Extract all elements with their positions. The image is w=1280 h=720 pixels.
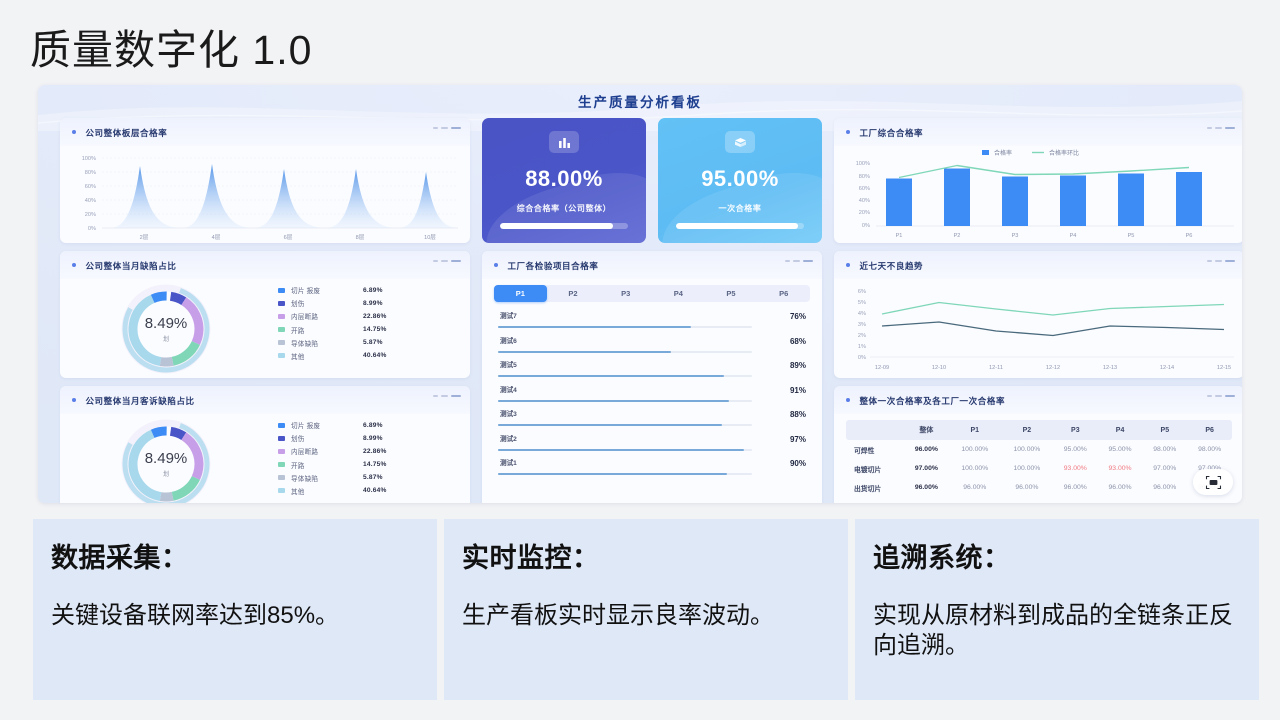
bullet-icon [72, 130, 76, 134]
donut-legend: 切片 报废6.89% 划伤8.99% 内层断路22.86% 开路14.75% 导… [278, 420, 456, 496]
box-icon [725, 131, 755, 153]
svg-text:0%: 0% [862, 223, 870, 229]
kpi-label: 一次合格率 [719, 203, 762, 214]
svg-text:5%: 5% [858, 300, 866, 306]
donut-center-label: 8.49% 划 [106, 418, 226, 503]
bullet-icon [846, 398, 850, 402]
dashboard-title: 生产质量分析看板 [38, 91, 1242, 111]
panel-controls[interactable] [433, 395, 461, 397]
panel-header: 近七天不良趋势 [834, 251, 1242, 279]
table-row: 电测 97.00% 97.00% 97.00% 97.00% 97.00% 97… [846, 498, 1232, 503]
svg-text:P2: P2 [954, 233, 961, 239]
panel-body: 8.49% 划 切片 报废6.89% 划伤8.99% 内层断路22.86% 开路… [60, 279, 470, 378]
summary-heading: 追溯系统： [873, 536, 1243, 575]
svg-text:P3: P3 [1012, 233, 1019, 239]
col-blank [846, 420, 904, 440]
svg-text:20%: 20% [85, 212, 96, 218]
line-chart-defect-trend: 6% 5% 4% 3% 2% 1% 0% 12-09 12-10 12-11 1… [834, 279, 1242, 378]
panel-title: 公司整体当月缺陷占比 [85, 261, 176, 271]
panel-header: 公司整体板层合格率 [60, 118, 470, 146]
svg-text:80%: 80% [85, 170, 96, 176]
donut-center-label: 8.49% 划 [106, 283, 226, 375]
bullet-icon [846, 263, 850, 267]
progress-row: 测试297% [498, 433, 806, 452]
panel-controls[interactable] [785, 260, 813, 262]
kpi-card-overall-pass-rate[interactable]: 88.00% 综合合格率（公司整体） [482, 118, 646, 243]
kpi-progress-track [500, 223, 628, 229]
panel-controls[interactable] [1207, 127, 1235, 129]
progress-row: 测试491% [498, 384, 806, 403]
svg-text:40%: 40% [859, 198, 870, 204]
svg-text:12-11: 12-11 [989, 365, 1003, 371]
panel-defect-ratio: 公司整体当月缺陷占比 [60, 251, 470, 378]
svg-text:2%: 2% [858, 333, 866, 339]
svg-text:12-10: 12-10 [932, 365, 946, 371]
legend-item: 导体缺陷5.87% [278, 473, 456, 483]
factory-tab-bar[interactable]: P1 P2 P3 P4 P5 P6 [494, 285, 810, 302]
svg-text:0%: 0% [858, 355, 866, 361]
tab-p6[interactable]: P6 [757, 285, 810, 302]
col-p2: P2 [1001, 420, 1053, 440]
svg-text:40%: 40% [85, 198, 96, 204]
table-row: 电镀切片 97.00% 100.00% 100.00% 93.00% 93.00… [846, 459, 1232, 478]
panel-controls[interactable] [1207, 395, 1235, 397]
svg-text:12-09: 12-09 [875, 365, 889, 371]
svg-text:100%: 100% [856, 161, 870, 167]
summary-text: 生产看板实时显示良率波动。 [462, 601, 832, 631]
col-p3: P3 [1053, 420, 1098, 440]
summary-box-data-collection: 数据采集： 关键设备联网率达到85%。 [33, 519, 437, 700]
slide-root: 质量数字化 1.0 生产质量分析看板 公司整体板层合格率 [0, 0, 1280, 720]
donut-chart: 8.49% 划 [106, 283, 226, 375]
legend-item: 其他40.64% [278, 486, 456, 496]
panel-layer-pass-rate: 公司整体板层合格率 [60, 118, 470, 243]
panel-body: 8.49% 划 切片 报废6.89% 划伤8.99% 内层断路22.86% 开路… [60, 414, 470, 503]
col-p6: P6 [1187, 420, 1232, 440]
panel-body: 100% 80% 60% 40% 20% 0% 2层 4层 6层 [60, 146, 470, 243]
svg-text:6%: 6% [858, 289, 866, 295]
svg-text:P5: P5 [1128, 233, 1135, 239]
col-overall: 整体 [904, 420, 949, 440]
tab-p4[interactable]: P4 [652, 285, 705, 302]
donut-center-sublabel: 划 [163, 469, 169, 478]
tab-p5[interactable]: P5 [705, 285, 758, 302]
summary-text: 实现从原材料到成品的全链条正反向追溯。 [873, 601, 1243, 662]
panel-body: P1 P2 P3 P4 P5 P6 测试776% 测试668% 测试589% 测… [482, 279, 822, 503]
panel-factory-pass-rate: 工厂综合合格率 合格率 合格率环比 100% 80% 60% 40% 20 [834, 118, 1242, 243]
panel-controls[interactable] [1207, 260, 1235, 262]
svg-text:4层: 4层 [212, 234, 221, 241]
svg-text:0%: 0% [88, 226, 96, 232]
svg-text:10层: 10层 [424, 234, 436, 241]
page-title: 质量数字化 1.0 [30, 16, 312, 76]
donut-chart: 8.49% 划 [106, 418, 226, 503]
tab-p2[interactable]: P2 [547, 285, 600, 302]
svg-text:2层: 2层 [140, 234, 149, 241]
svg-text:合格率环比: 合格率环比 [1049, 149, 1079, 157]
col-p4: P4 [1098, 420, 1143, 440]
panel-inspection-pass-rate: 工厂各检验项目合格率 P1 P2 P3 P4 P5 P6 测试776% 测试66… [482, 251, 822, 503]
summary-box-traceability-system: 追溯系统： 实现从原材料到成品的全链条正反向追溯。 [855, 519, 1259, 700]
legend-item: 切片 报废6.89% [278, 420, 456, 430]
panel-title: 公司整体板层合格率 [85, 128, 167, 138]
summary-heading: 数据采集： [51, 536, 421, 575]
panel-title: 公司整体当月客诉缺陷占比 [85, 396, 194, 406]
bar-line-chart-factory-pass: 合格率 合格率环比 100% 80% 60% 40% 20% 0% [834, 146, 1242, 243]
donut-center-value: 8.49% [145, 451, 188, 466]
svg-text:12-14: 12-14 [1160, 365, 1174, 371]
bullet-icon [72, 398, 76, 402]
svg-text:100%: 100% [82, 156, 96, 162]
col-p5: P5 [1142, 420, 1187, 440]
donut-center-value: 8.49% [145, 316, 188, 331]
progress-row: 测试776% [498, 310, 806, 329]
tab-p3[interactable]: P3 [599, 285, 652, 302]
svg-text:12-15: 12-15 [1217, 365, 1231, 371]
kpi-group: 88.00% 综合合格率（公司整体） 95.00% 一次合格率 [482, 118, 822, 243]
bullet-icon [72, 263, 76, 267]
area-chart-layer-pass: 100% 80% 60% 40% 20% 0% 2层 4层 6层 [60, 146, 470, 243]
table-row: 出货切片 96.00% 96.00% 96.00% 96.00% 96.00% … [846, 478, 1232, 497]
svg-text:3%: 3% [858, 322, 866, 328]
donut-legend: 切片 报废6.89% 划伤8.99% 内层断路22.86% 开路14.75% 导… [278, 285, 456, 361]
svg-text:4%: 4% [858, 311, 866, 317]
legend-item: 内层断路22.86% [278, 311, 456, 321]
bar-chart-icon [549, 131, 579, 153]
donut-center-sublabel: 划 [163, 334, 169, 343]
summary-text: 关键设备联网率达到85%。 [51, 601, 421, 631]
panel-complaint-defect-ratio: 公司整体当月客诉缺陷占比 [60, 386, 470, 503]
panel-body: 整体 P1 P2 P3 P4 P5 P6 可焊性 [834, 414, 1242, 503]
panel-body: 合格率 合格率环比 100% 80% 60% 40% 20% 0% [834, 146, 1242, 243]
svg-text:P1: P1 [896, 233, 903, 239]
panel-header: 公司整体当月客诉缺陷占比 [60, 386, 470, 414]
dashboard-container: 生产质量分析看板 公司整体板层合格率 [38, 85, 1242, 503]
legend-item: 导体缺陷5.87% [278, 338, 456, 348]
legend-item: 其他40.64% [278, 351, 456, 361]
svg-text:合格率: 合格率 [994, 149, 1012, 157]
panel-header: 公司整体当月缺陷占比 [60, 251, 470, 279]
kpi-label: 综合合格率（公司整体） [517, 203, 612, 214]
svg-text:P4: P4 [1070, 233, 1077, 239]
panel-body: 6% 5% 4% 3% 2% 1% 0% 12-09 12-10 12-11 1… [834, 279, 1242, 378]
svg-text:60%: 60% [859, 186, 870, 192]
summary-heading: 实时监控： [462, 536, 832, 575]
progress-row: 测试589% [498, 359, 806, 378]
bullet-icon [494, 263, 498, 267]
svg-text:8层: 8层 [356, 234, 365, 241]
svg-text:6层: 6层 [284, 234, 293, 241]
table-header-row: 整体 P1 P2 P3 P4 P5 P6 [846, 420, 1232, 440]
legend-item: 划伤8.99% [278, 298, 456, 308]
svg-text:P6: P6 [1186, 233, 1193, 239]
summary-box-realtime-monitoring: 实时监控： 生产看板实时显示良率波动。 [444, 519, 848, 700]
progress-row: 测试388% [498, 408, 806, 427]
fullscreen-icon[interactable] [1193, 469, 1233, 495]
svg-text:1%: 1% [858, 344, 866, 350]
panel-title: 整体一次合格率及各工厂一次合格率 [859, 396, 1005, 406]
svg-text:80%: 80% [859, 174, 870, 180]
panel-header: 工厂综合合格率 [834, 118, 1242, 146]
legend-item: 开路14.75% [278, 325, 456, 335]
panel-title: 工厂各检验项目合格率 [507, 261, 598, 271]
fpy-table: 整体 P1 P2 P3 P4 P5 P6 可焊性 [846, 420, 1232, 503]
panel-title: 工厂综合合格率 [859, 128, 923, 138]
dashboard-grid: 公司整体板层合格率 [60, 118, 1220, 489]
panel-controls[interactable] [433, 127, 461, 129]
kpi-card-first-pass-yield[interactable]: 95.00% 一次合格率 [658, 118, 822, 243]
svg-text:12-12: 12-12 [1046, 365, 1060, 371]
inspection-progress-list: 测试776% 测试668% 测试589% 测试491% 测试388% 测试297… [498, 310, 806, 476]
svg-text:20%: 20% [859, 210, 870, 216]
legend-item: 开路14.75% [278, 460, 456, 470]
table-row: 可焊性 96.00% 100.00% 100.00% 95.00% 95.00%… [846, 440, 1232, 459]
legend-item: 内层断路22.86% [278, 446, 456, 456]
panel-defect-trend: 近七天不良趋势 6% 5% 4% 3% 2% 1% 0% [834, 251, 1242, 378]
svg-text:60%: 60% [85, 184, 96, 190]
svg-text:12-13: 12-13 [1103, 365, 1117, 371]
panel-title: 近七天不良趋势 [859, 261, 923, 271]
kpi-progress-track [676, 223, 804, 229]
progress-row: 测试190% [498, 457, 806, 476]
progress-row: 测试668% [498, 335, 806, 354]
legend-swatch-bar [982, 150, 989, 155]
panel-controls[interactable] [433, 260, 461, 262]
summary-boxes: 数据采集： 关键设备联网率达到85%。 实时监控： 生产看板实时显示良率波动。 … [33, 519, 1259, 700]
legend-item: 划伤8.99% [278, 433, 456, 443]
panel-fpy-table: 整体一次合格率及各工厂一次合格率 整体 P1 P2 P3 P4 [834, 386, 1242, 503]
bullet-icon [846, 130, 850, 134]
col-p1: P1 [949, 420, 1001, 440]
panel-header: 整体一次合格率及各工厂一次合格率 [834, 386, 1242, 414]
tab-p1[interactable]: P1 [494, 285, 547, 302]
legend-item: 切片 报废6.89% [278, 285, 456, 295]
panel-header: 工厂各检验项目合格率 [482, 251, 822, 279]
